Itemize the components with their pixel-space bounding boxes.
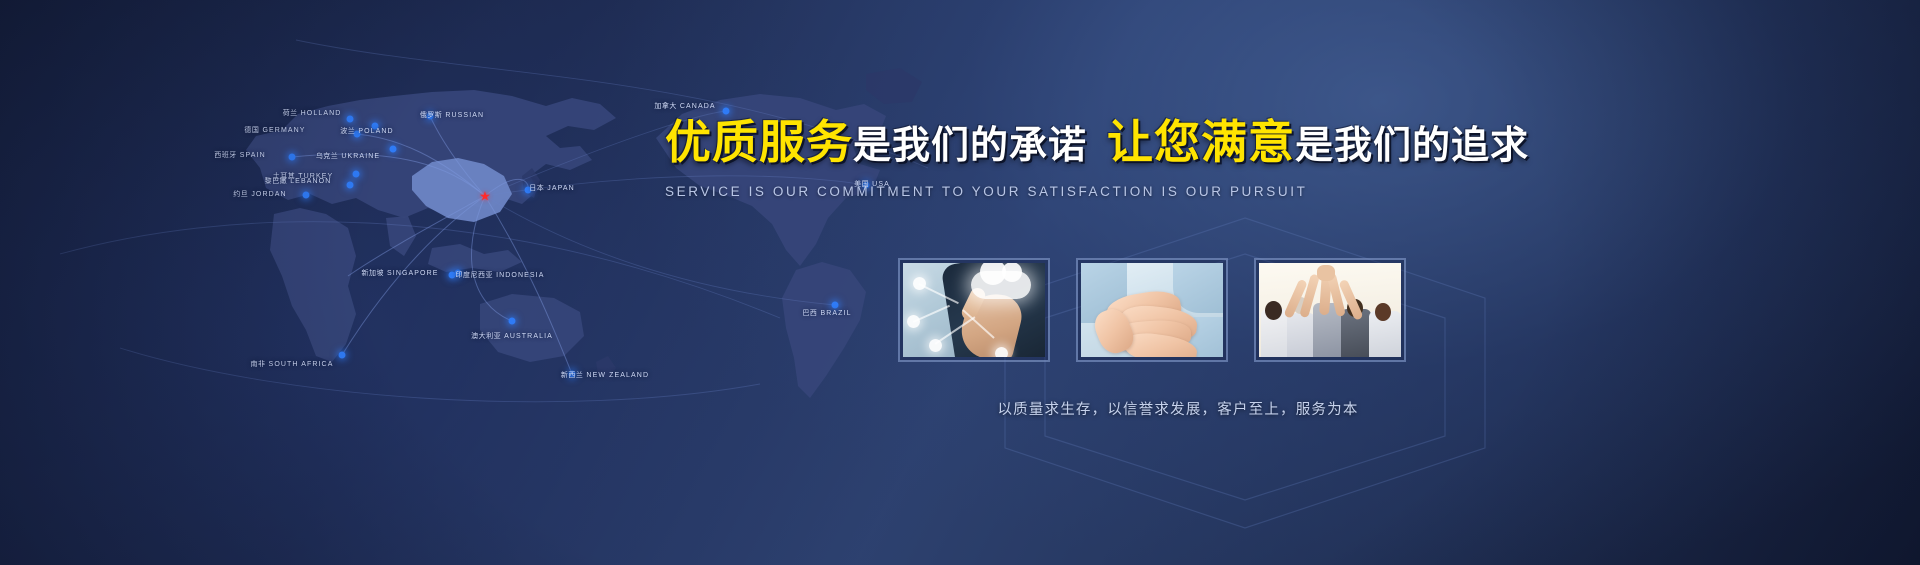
map-label-brazil: 巴西 BRAZIL (802, 308, 851, 318)
map-label-lebanon: 黎巴嫩 LEBANON (265, 176, 332, 186)
photo-team-high-five[interactable] (1254, 258, 1406, 362)
network-node-icon (995, 347, 1008, 357)
map-pin-turkey[interactable] (353, 171, 360, 178)
map-pin-spain[interactable] (289, 154, 296, 161)
cloud-icon (971, 271, 1031, 299)
bottom-tagline: 以质量求生存，以信誉求发展，客户至上，服务为本 (898, 398, 1458, 419)
map-label-spain: 西班牙 SPAIN (214, 150, 266, 160)
map-label-russian: 俄罗斯 RUSSIAN (420, 110, 484, 120)
map-pin-ukraine[interactable] (390, 146, 397, 153)
photo3-head-shape (1265, 301, 1282, 320)
photo-teamwork-hands-stack[interactable] (1076, 258, 1228, 362)
map-label-jordan: 约旦 JORDAN (233, 189, 286, 199)
map-pin-holland[interactable] (347, 116, 354, 123)
map-label-australia: 澳大利亚 AUSTRALIA (471, 331, 553, 341)
headline-part1-rest: 是我们的承诺 (853, 125, 1087, 167)
map-pin-lebanon[interactable] (347, 182, 354, 189)
map-label-ukraine: 乌克兰 UKRAINE (316, 151, 380, 161)
network-link (913, 305, 950, 323)
map-pin-australia[interactable] (509, 318, 516, 325)
headline-part2-rest: 是我们的追求 (1295, 125, 1529, 167)
photo-strip (898, 258, 1406, 362)
headline-block: 优质服务是我们的承诺让您满意是我们的追求 SERVICE IS OUR COMM… (665, 118, 1445, 199)
headline-part1-highlight: 优质服务 (665, 116, 853, 168)
map-label-new-zealand: 新西兰 NEW ZEALAND (561, 370, 649, 380)
map-label-holland: 荷兰 HOLLAND (283, 108, 342, 118)
world-map-svg (60, 18, 940, 488)
map-label-indonesia: 印度尼西亚 INDONESIA (456, 270, 545, 280)
map-label-poland: 波兰 POLAND (340, 126, 393, 136)
service-banner: 荷兰 HOLLAND德国 GERMANY波兰 POLAND乌克兰 UKRAINE… (0, 0, 1920, 565)
headline: 优质服务是我们的承诺让您满意是我们的追求 (665, 118, 1445, 168)
map-label-south-africa: 南非 SOUTH AFRICA (251, 359, 334, 369)
home-location-star-icon: ★ (479, 190, 491, 203)
map-label-canada: 加拿大 CANADA (654, 101, 715, 111)
photo3-clasped-hands (1317, 265, 1335, 281)
map-pin-canada[interactable] (723, 108, 730, 115)
map-label-germany: 德国 GERMANY (244, 125, 305, 135)
photo3-person-shape (1287, 313, 1315, 357)
photo3-head-shape (1375, 303, 1391, 321)
map-label-japan: 日本 JAPAN (529, 183, 575, 193)
subheadline: SERVICE IS OUR COMMITMENT TO YOUR SATISF… (665, 184, 1445, 199)
world-map: 荷兰 HOLLAND德国 GERMANY波兰 POLAND乌克兰 UKRAINE… (60, 18, 940, 488)
map-pin-jordan[interactable] (303, 192, 310, 199)
headline-part2-highlight: 让您满意 (1107, 116, 1295, 168)
photo-cloud-technology-touch[interactable] (898, 258, 1050, 362)
map-pin-south-africa[interactable] (339, 352, 346, 359)
map-label-singapore: 新加坡 SINGAPORE (361, 268, 438, 278)
